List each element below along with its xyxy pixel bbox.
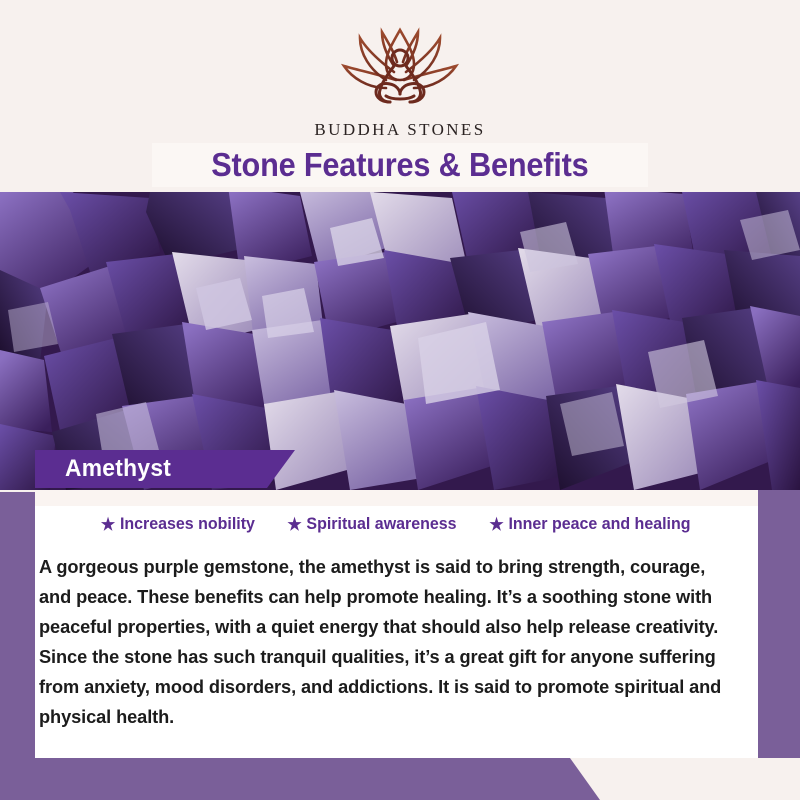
- feature-label: Spiritual awareness: [306, 514, 456, 534]
- features-list: ★ Increases nobility ★ Spiritual awarene…: [35, 514, 758, 534]
- content-panel: ★ Increases nobility ★ Spiritual awarene…: [35, 490, 758, 758]
- feature-item: ★ Spiritual awareness: [287, 514, 456, 534]
- feature-label: Increases nobility: [120, 514, 255, 534]
- page-title-band: Stone Features & Benefits: [152, 143, 648, 187]
- frame-bottom-bar: [0, 758, 800, 800]
- star-icon: ★: [490, 516, 504, 533]
- stone-description: A gorgeous purple gemstone, the amethyst…: [39, 552, 741, 732]
- brand-logo: BUDDHA STONES: [314, 22, 485, 140]
- frame-left-bar: [0, 492, 35, 800]
- lotus-meditation-icon: [324, 22, 476, 114]
- feature-item: ★ Inner peace and healing: [490, 514, 691, 534]
- feature-item: ★ Increases nobility: [101, 514, 255, 534]
- page-title: Stone Features & Benefits: [211, 146, 588, 184]
- star-icon: ★: [287, 516, 301, 533]
- amethyst-crystal-cluster-illustration: [0, 192, 800, 490]
- stone-name-label: Amethyst: [65, 455, 171, 483]
- panel-top-fade: [35, 490, 758, 506]
- product-info-card: BUDDHA STONES Stone Features & Benefits: [0, 0, 800, 800]
- stone-name-tag: Amethyst: [35, 450, 295, 488]
- feature-label: Inner peace and healing: [509, 514, 691, 534]
- hero-image: [0, 192, 800, 490]
- brand-name: BUDDHA STONES: [314, 120, 485, 140]
- star-icon: ★: [101, 516, 115, 533]
